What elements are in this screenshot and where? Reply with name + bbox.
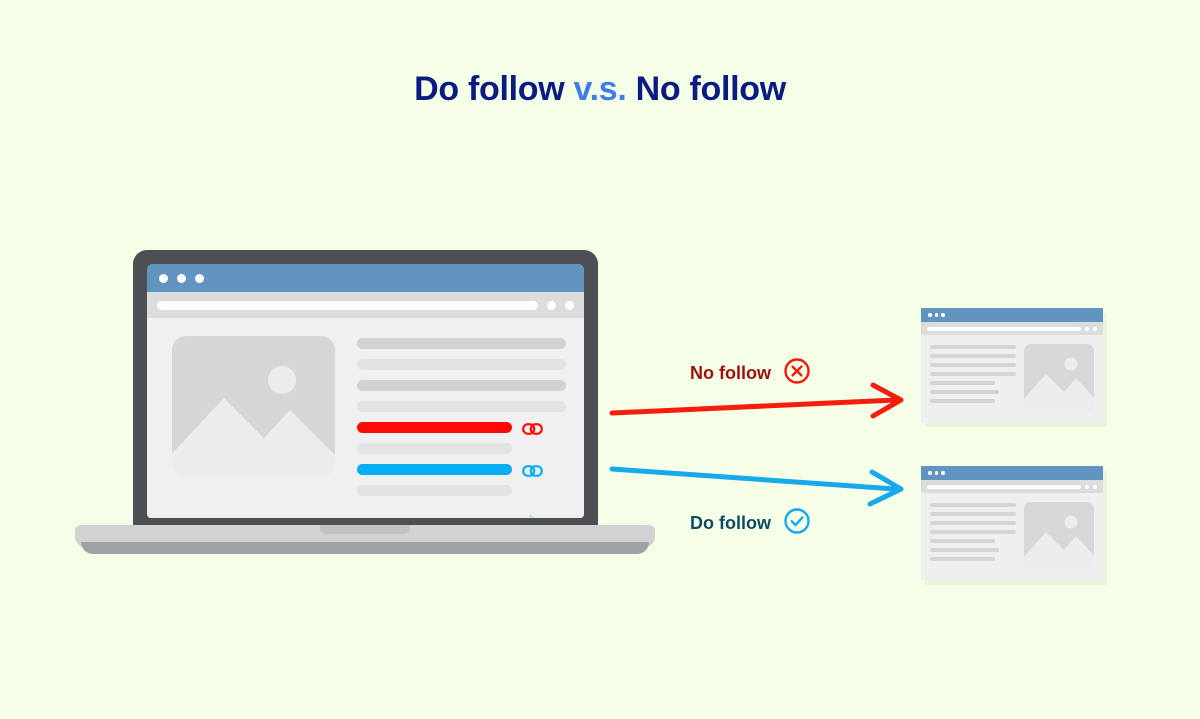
content-line-row — [357, 485, 566, 496]
mini-page-content — [921, 335, 1103, 422]
text-line — [357, 443, 512, 454]
target-window-nofollow[interactable] — [921, 308, 1103, 422]
toolbar-icon-2[interactable] — [565, 301, 574, 310]
nofollow-link-row[interactable] — [357, 422, 566, 433]
laptop-base-notch — [320, 525, 410, 534]
traffic-light-dot-2 — [177, 274, 186, 283]
traffic-light-dot-3 — [941, 471, 945, 475]
toolbar-icon-1[interactable] — [1085, 327, 1089, 331]
text-line — [357, 401, 566, 412]
image-placeholder-icon — [1024, 344, 1094, 410]
dofollow-label: Do follow — [690, 513, 771, 534]
traffic-light-dot-2 — [935, 471, 939, 475]
address-bar-input[interactable] — [927, 327, 1081, 331]
text-line — [930, 503, 1016, 507]
dofollow-label-group: Do follow — [690, 507, 811, 540]
toolbar-icon-1[interactable] — [547, 301, 556, 310]
text-line — [357, 380, 566, 391]
laptop-lid — [133, 250, 598, 528]
traffic-light-dot-3 — [195, 274, 204, 283]
laptop-screen — [147, 264, 584, 518]
browser-titlebar — [147, 264, 584, 292]
text-line — [930, 390, 999, 394]
text-line — [930, 399, 995, 403]
nofollow-label: No follow — [690, 363, 771, 384]
traffic-light-dot-1 — [159, 274, 168, 283]
content-line-row — [357, 443, 566, 454]
laptop-illustration — [75, 250, 665, 560]
text-line — [357, 359, 566, 370]
chain-link-icon — [522, 422, 543, 434]
circle-check-icon — [783, 507, 811, 540]
content-line-row — [357, 380, 566, 391]
page-content — [147, 318, 584, 518]
traffic-light-dot-1 — [928, 471, 932, 475]
circle-x-icon — [783, 357, 811, 390]
mini-content-lines — [930, 502, 1016, 568]
address-bar-input[interactable] — [157, 301, 538, 310]
content-line-row — [357, 338, 566, 349]
traffic-light-dot-1 — [928, 313, 932, 317]
image-placeholder-icon — [1024, 502, 1094, 568]
content-lines — [357, 336, 566, 518]
mini-browser-toolbar — [921, 480, 1103, 493]
chain-link-icon — [522, 464, 543, 476]
traffic-light-dot-3 — [941, 313, 945, 317]
dofollow-link-row[interactable] — [357, 464, 566, 475]
target-window-dofollow[interactable] — [921, 466, 1103, 580]
text-line — [930, 557, 995, 561]
content-line-row — [357, 359, 566, 370]
text-line — [357, 485, 512, 496]
laptop-base-shadow — [81, 542, 649, 554]
toolbar-icon-2[interactable] — [1093, 327, 1097, 331]
toolbar-icon-1[interactable] — [1085, 485, 1089, 489]
text-line — [930, 512, 1016, 516]
mini-page-content — [921, 493, 1103, 580]
text-line — [930, 372, 1016, 376]
title-accent-vs: v.s. — [574, 70, 627, 108]
mini-content-lines — [930, 344, 1016, 410]
image-placeholder-icon — [172, 336, 335, 476]
content-line-row — [357, 401, 566, 412]
traffic-light-dot-2 — [935, 313, 939, 317]
address-bar-input[interactable] — [927, 485, 1081, 489]
dofollow-link-text[interactable] — [357, 464, 512, 475]
text-line — [357, 338, 566, 349]
title-part-2: No follow — [627, 70, 786, 108]
text-line — [930, 548, 999, 552]
mouse-pointer-icon — [526, 512, 560, 518]
title-part-1: Do follow — [414, 70, 573, 108]
browser-toolbar — [147, 292, 584, 318]
toolbar-icon-2[interactable] — [1093, 485, 1097, 489]
nofollow-label-group: No follow — [690, 357, 811, 390]
nofollow-link-text[interactable] — [357, 422, 512, 433]
mini-browser-titlebar — [921, 466, 1103, 480]
mini-browser-toolbar — [921, 322, 1103, 335]
mini-browser-titlebar — [921, 308, 1103, 322]
text-line — [930, 345, 1016, 349]
illustration-canvas: Do follow v.s. No follow — [0, 0, 1200, 719]
text-line — [930, 530, 1016, 534]
text-line — [930, 354, 1016, 358]
text-line — [930, 539, 995, 543]
text-line — [930, 521, 1016, 525]
page-title: Do follow v.s. No follow — [0, 70, 1200, 109]
text-line — [930, 381, 995, 385]
text-line — [930, 363, 1016, 367]
